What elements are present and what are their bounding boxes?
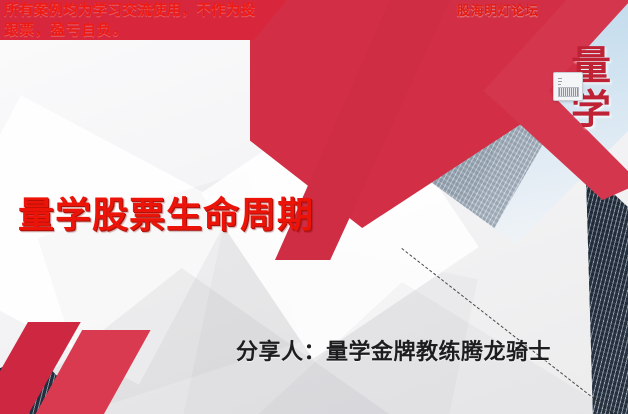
presentation-slide: 所有案例均为学习交流使用，不作为投 跟票，盈亏自负。 股海明灯论坛 量 学 量学… (0, 0, 628, 414)
document-thumbnail-icon (553, 72, 583, 101)
disclaimer-line-1: 所有案例均为学习交流使用，不作为投 (4, 1, 276, 21)
doc-icon-thumbnail (558, 87, 579, 97)
presenter-label: 分享人：量学金牌教练腾龙骑士 (236, 334, 551, 366)
forum-name-label: 股海明灯论坛 (457, 0, 539, 19)
disclaimer-line-2: 跟票，盈亏自负。 (4, 21, 276, 41)
disclaimer-text: 所有案例均为学习交流使用，不作为投 跟票，盈亏自负。 (4, 1, 276, 41)
doc-icon-line-3 (558, 84, 561, 85)
doc-icon-line-1 (558, 78, 562, 79)
page-title: 量学股票生命周期 (18, 186, 314, 238)
doc-icon-line-2 (558, 81, 562, 82)
